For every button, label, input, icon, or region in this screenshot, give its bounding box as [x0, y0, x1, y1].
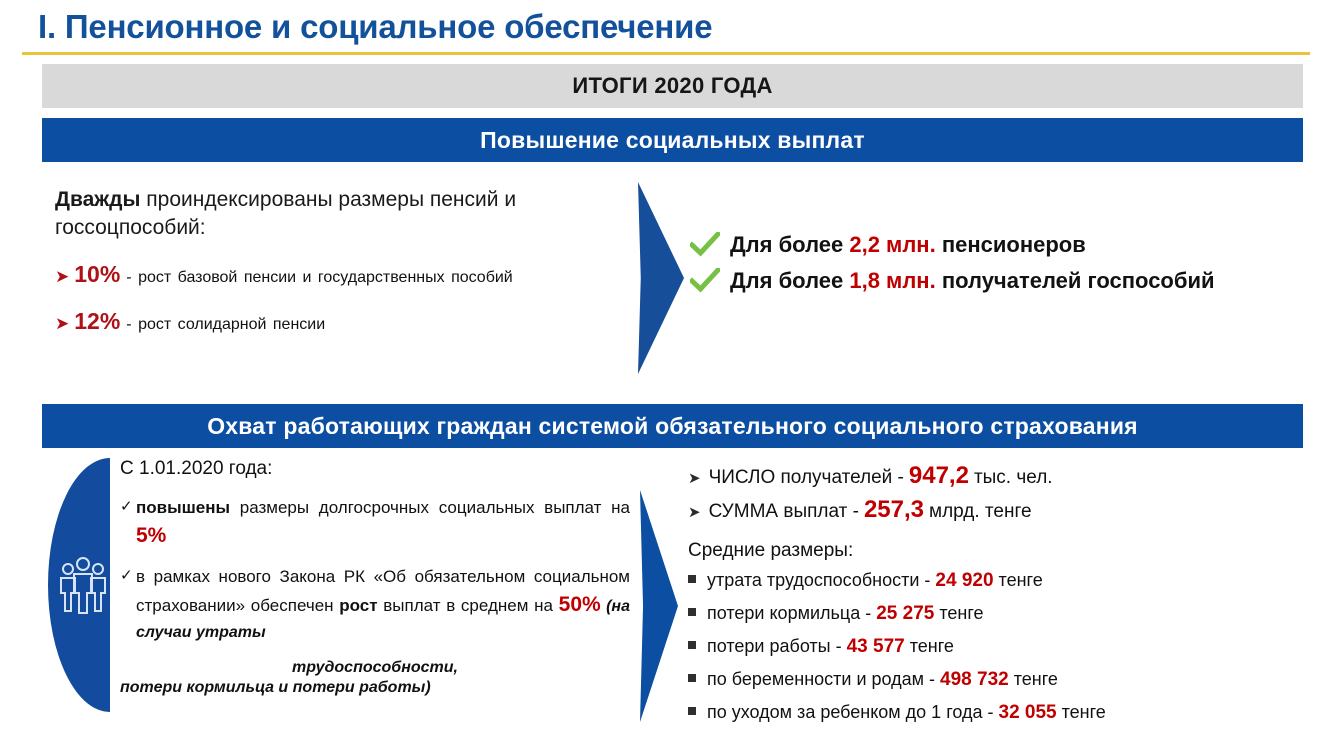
- beneficiary-prefix: Для более: [730, 232, 849, 257]
- average-amount: 498 732: [940, 669, 1009, 691]
- percent-value: 12%: [74, 308, 120, 335]
- green-check-icon: [690, 232, 720, 258]
- kpi-label: СУММА выплат -: [709, 501, 859, 523]
- coverage-date-line: С 1.01.2020 года:: [120, 458, 630, 480]
- beneficiary-prefix: Для более: [730, 268, 849, 293]
- kpi-label: ЧИСЛО получателей -: [709, 467, 904, 489]
- list-item: ✓ повышены размеры долгосрочных социальн…: [120, 496, 630, 551]
- list-item: утрата трудоспособности - 24 920 тенге: [688, 570, 1323, 592]
- title-divider: [22, 52, 1310, 55]
- blue-chevron-icon: [640, 490, 678, 722]
- average-unit: тенге: [910, 636, 954, 657]
- average-label: по уходом за ребенком до 1 года -: [707, 702, 994, 723]
- square-bullet-icon: [688, 674, 696, 682]
- kpi-value: 947,2: [909, 462, 969, 490]
- beneficiary-suffix: пенсионеров: [936, 232, 1086, 257]
- arrow-bullet-icon: ➤: [55, 268, 69, 285]
- coverage-point-percent: 50%: [559, 593, 601, 616]
- square-bullet-icon: [688, 707, 696, 715]
- arrow-bullet-icon: ➤: [688, 503, 701, 521]
- coverage-point-mid: размеры долгосрочных социальных выплат н…: [230, 498, 630, 517]
- indexation-lead-bold: Дважды: [55, 188, 140, 211]
- beneficiary-number: 1,8 млн.: [849, 268, 935, 293]
- tick-icon: ✓: [120, 496, 136, 551]
- page-title: I. Пенсионное и социальное обеспечение: [38, 8, 712, 46]
- coverage-point-text: в рамках нового Закона РК «Об обязательн…: [136, 565, 630, 645]
- kpi-unit: тыс. чел.: [974, 467, 1053, 489]
- list-item: ➤ СУММА выплат - 257,3 млрд. тенге: [688, 496, 1323, 524]
- coverage-point-bold: рост: [339, 596, 377, 615]
- results-banner-label: ИТОГИ 2020 ГОДА: [572, 73, 772, 99]
- three-people-icon: [58, 553, 108, 615]
- average-label: утрата трудоспособности -: [707, 570, 930, 591]
- list-item: ➤ ЧИСЛО получателей - 947,2 тыс. чел.: [688, 462, 1323, 490]
- coverage-point-bold: повышены: [136, 498, 230, 517]
- tick-icon: ✓: [120, 565, 136, 645]
- beneficiaries-block: Для более 2,2 млн. пенсионеров Для более…: [690, 232, 1323, 304]
- people-badge: [48, 458, 110, 712]
- kpi-unit: млрд. тенге: [929, 501, 1032, 523]
- arrow-bullet-icon: ➤: [55, 315, 69, 332]
- average-label: потери кормильца -: [707, 603, 871, 624]
- beneficiary-text: Для более 2,2 млн. пенсионеров: [730, 232, 1086, 258]
- coverage-left-block: С 1.01.2020 года: ✓ повышены размеры дол…: [120, 458, 630, 697]
- averages-heading: Средние размеры:: [688, 540, 1323, 562]
- coverage-point-text: повышены размеры долгосрочных социальных…: [136, 496, 630, 551]
- average-unit: тенге: [999, 570, 1043, 591]
- average-label: потери работы -: [707, 636, 842, 657]
- list-item: по беременности и родам - 498 732 тенге: [688, 669, 1323, 691]
- payments-section-banner-label: Повышение социальных выплат: [480, 127, 865, 154]
- indexation-block: Дважды проиндексированы размеры пенсий и…: [55, 186, 625, 335]
- beneficiary-text: Для более 1,8 млн. получателей госпособи…: [730, 268, 1215, 294]
- percent-description: - рост базовой пенсии и государственных …: [126, 269, 512, 287]
- average-amount: 32 055: [999, 702, 1057, 724]
- list-item: потери работы - 43 577 тенге: [688, 636, 1323, 658]
- square-bullet-icon: [688, 641, 696, 649]
- percent-description: - рост солидарной пенсии: [126, 316, 325, 334]
- payments-section-banner: Повышение социальных выплат: [42, 118, 1303, 162]
- coverage-note-line-1: трудоспособности,: [120, 659, 630, 677]
- list-item: ➤ 12% - рост солидарной пенсии: [55, 308, 625, 335]
- coverage-section-banner-label: Охват работающих граждан системой обязат…: [207, 413, 1138, 440]
- coverage-section-banner: Охват работающих граждан системой обязат…: [42, 404, 1303, 448]
- square-bullet-icon: [688, 575, 696, 583]
- average-amount: 43 577: [847, 636, 905, 658]
- average-amount: 25 275: [876, 603, 934, 625]
- blue-chevron-icon: [638, 182, 684, 374]
- list-item: Для более 2,2 млн. пенсионеров: [690, 232, 1323, 258]
- square-bullet-icon: [688, 608, 696, 616]
- beneficiary-suffix: получателей госпособий: [936, 268, 1215, 293]
- coverage-right-block: ➤ ЧИСЛО получателей - 947,2 тыс. чел. ➤ …: [688, 462, 1323, 735]
- average-unit: тенге: [1014, 669, 1058, 690]
- average-unit: тенге: [1062, 702, 1106, 723]
- list-item: потери кормильца - 25 275 тенге: [688, 603, 1323, 625]
- green-check-icon: [690, 268, 720, 294]
- list-item: ✓ в рамках нового Закона РК «Об обязател…: [120, 565, 630, 645]
- results-banner: ИТОГИ 2020 ГОДА: [42, 64, 1303, 108]
- coverage-note-line-2: потери кормильца и потери работы): [120, 679, 630, 697]
- list-item: ➤ 10% - рост базовой пенсии и государств…: [55, 261, 625, 288]
- percent-value: 10%: [74, 261, 120, 288]
- list-item: Для более 1,8 млн. получателей госпособи…: [690, 268, 1323, 294]
- beneficiary-number: 2,2 млн.: [849, 232, 935, 257]
- arrow-bullet-icon: ➤: [688, 469, 701, 487]
- list-item: по уходом за ребенком до 1 года - 32 055…: [688, 702, 1323, 724]
- coverage-point-percent: 5%: [136, 524, 166, 547]
- coverage-point-mid: выплат в среднем на: [378, 596, 559, 615]
- average-unit: тенге: [939, 603, 983, 624]
- average-amount: 24 920: [935, 570, 993, 592]
- indexation-lead: Дважды проиндексированы размеры пенсий и…: [55, 186, 625, 241]
- kpi-value: 257,3: [864, 496, 924, 524]
- average-label: по беременности и родам -: [707, 669, 935, 690]
